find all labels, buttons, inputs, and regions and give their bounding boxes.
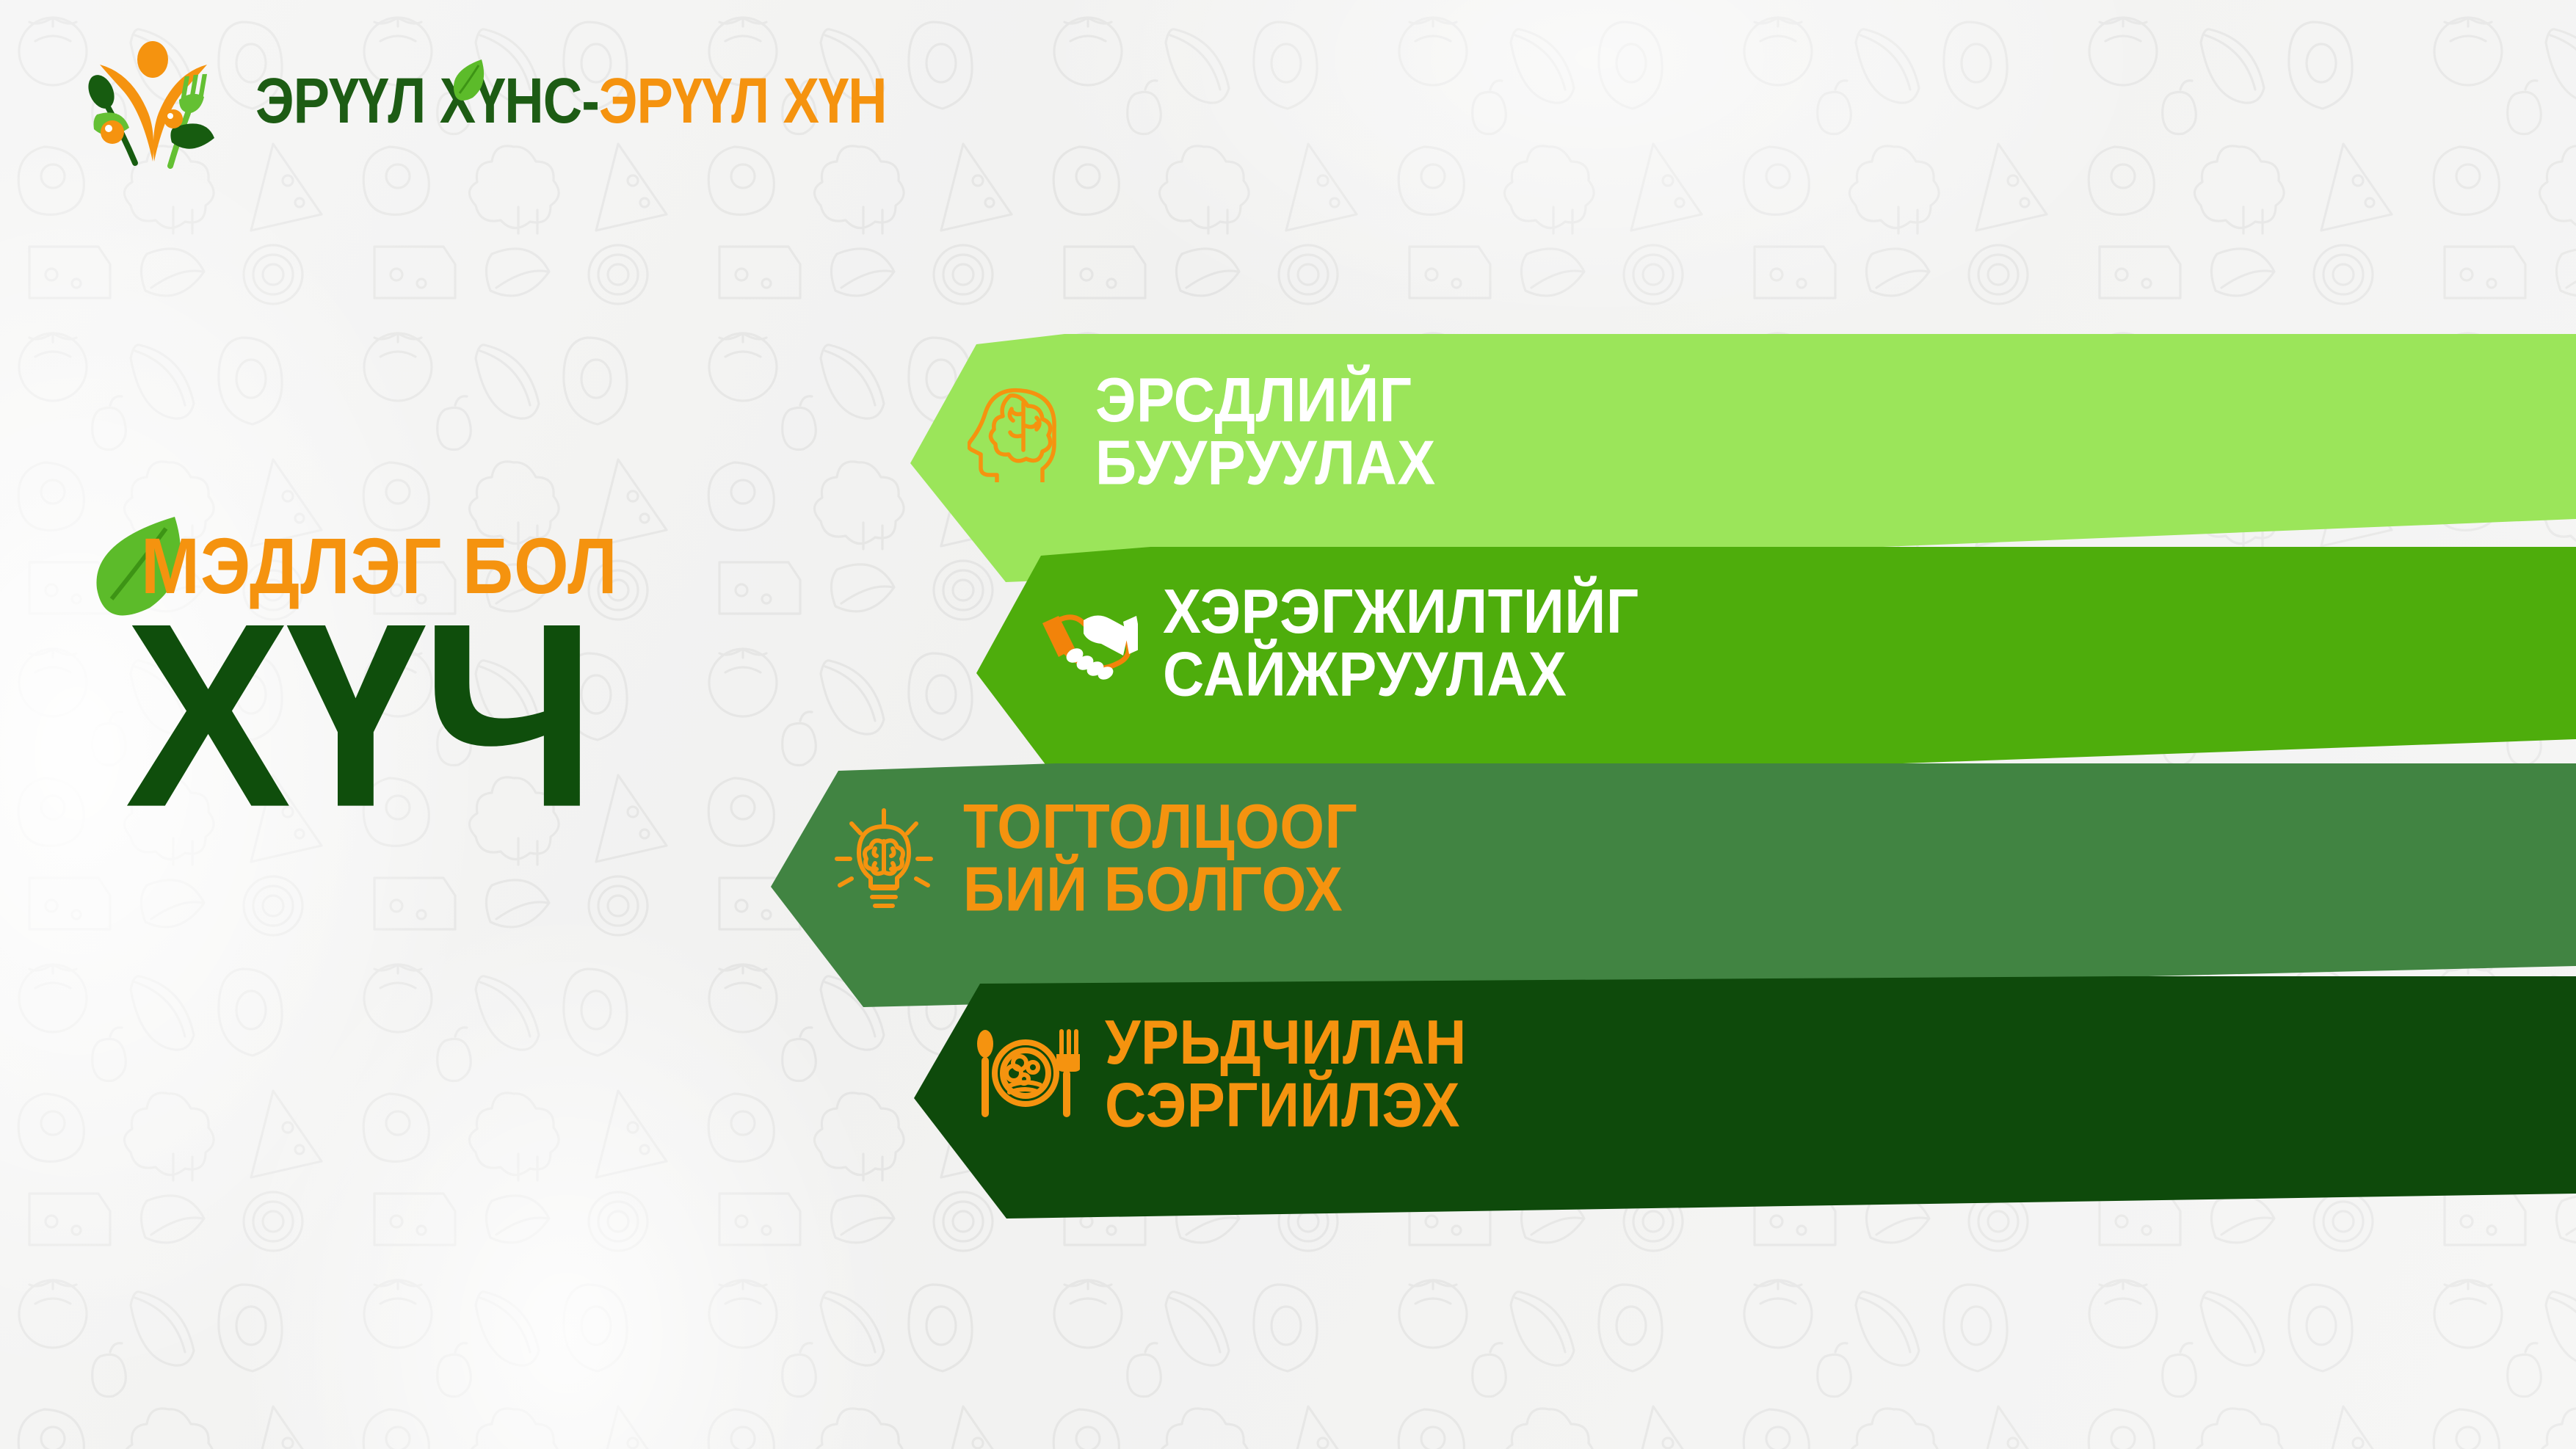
band-label: ЭРСДЛИЙГ БУУРУУЛАХ bbox=[1095, 368, 1436, 494]
leaf-icon bbox=[452, 58, 486, 103]
band-label-line2: БИЙ БОЛГОХ bbox=[963, 857, 1357, 920]
logo-text-green: ЭРҮҮЛ ХҮНС bbox=[255, 75, 581, 128]
person-spoon-fork-leaf-logo-icon bbox=[70, 38, 238, 172]
band-label-line2: СЭРГИЙЛЭХ bbox=[1105, 1073, 1467, 1136]
band-label-line2: БУУРУУЛАХ bbox=[1095, 431, 1436, 494]
band-label-line2: САЙЖРУУЛАХ bbox=[1163, 642, 1639, 705]
band-label-line1: ТОГТОЛЦООГ bbox=[963, 791, 1357, 862]
brain-head-icon bbox=[968, 379, 1070, 482]
brand-wordmark: ЭРҮҮЛ ХҮНС-ЭРҮҮЛ ХҮН bbox=[255, 83, 887, 128]
brand-logo[interactable]: ЭРҮҮЛ ХҮНС-ЭРҮҮЛ ХҮН bbox=[70, 38, 887, 172]
logo-text-separator: - bbox=[581, 75, 599, 128]
headline-line2: ХҮЧ bbox=[125, 611, 618, 821]
page-headline: МЭДЛЭГ БОЛ ХҮЧ bbox=[125, 536, 618, 810]
band-label-line1: ХЭРЭГЖИЛТИЙГ bbox=[1163, 575, 1639, 647]
logo-text-orange: ЭРҮҮЛ ХҮН bbox=[599, 75, 887, 128]
band-label-line1: ЭРСДЛИЙГ bbox=[1095, 364, 1412, 435]
band-label: УРЬДЧИЛАН СЭРГИЙЛЭХ bbox=[1105, 1010, 1467, 1136]
band-label: ХЭРЭГЖИЛТИЙГ САЙЖРУУЛАХ bbox=[1163, 579, 1639, 705]
band-label-line1: УРЬДЧИЛАН bbox=[1105, 1006, 1467, 1078]
plate-fork-spoon-icon bbox=[974, 1020, 1080, 1126]
lightbulb-brain-icon bbox=[830, 803, 938, 912]
band-label: ТОГТОЛЦООГ БИЙ БОЛГОХ bbox=[963, 794, 1357, 920]
handshake-icon bbox=[1035, 591, 1138, 694]
band-prevention[interactable]: УРЬДЧИЛАН СЭРГИЙЛЭХ bbox=[914, 976, 2576, 1233]
